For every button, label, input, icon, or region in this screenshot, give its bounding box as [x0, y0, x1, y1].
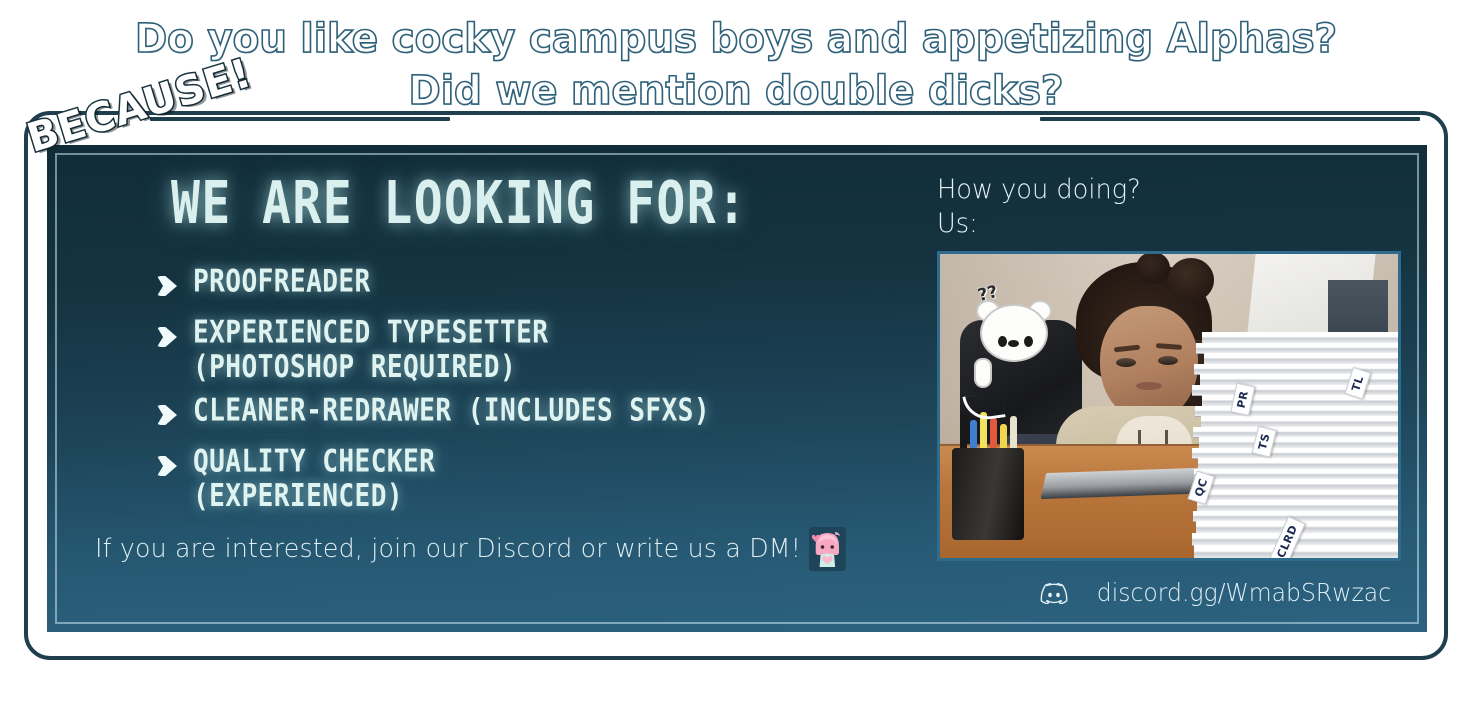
list-item: QUALITY CHECKER (EXPERIENCED) — [157, 445, 947, 505]
plush-nose — [1008, 340, 1019, 347]
question-text: How you doing? — [937, 173, 1384, 207]
woman-lips — [1136, 382, 1162, 390]
discord-link-text[interactable]: discord.gg/WmabSRwzac — [1097, 578, 1391, 607]
hair-bun-right — [1168, 258, 1214, 302]
call-to-action: If you are interested, join our Discord … — [95, 527, 921, 571]
eyebrow-right — [1156, 343, 1182, 350]
decorative-rule-right — [1040, 117, 1420, 121]
list-item: EXPERIENCED TYPESETTER (PHOTOSHOP REQUIR… — [157, 316, 947, 376]
bear-plushie: ?? — [972, 290, 1054, 368]
eye-left — [1116, 358, 1136, 367]
arrow-bullet-icon — [157, 274, 179, 298]
arrow-bullet-icon — [157, 454, 179, 478]
cta-text: If you are interested, join our Discord … — [95, 534, 801, 564]
office-photo: ?? — [937, 251, 1401, 561]
arrow-bullet-icon — [157, 325, 179, 349]
content-panel: WE ARE LOOKING FOR: PROOFREADER EXPERIEN… — [47, 145, 1427, 632]
role-list: PROOFREADER EXPERIENCED TYPESETTER (PHOT… — [157, 265, 947, 505]
plush-eye-left — [998, 336, 1007, 347]
decorative-rule-left — [150, 117, 450, 121]
eyebrow-left — [1114, 345, 1140, 353]
promo-banner: Do you like cocky campus boys and appeti… — [0, 0, 1472, 707]
discord-icon — [1040, 582, 1068, 604]
paper-stack: PR TL TS QC CLRD — [1192, 332, 1401, 561]
left-column: WE ARE LOOKING FOR: PROOFREADER EXPERIEN… — [87, 175, 947, 571]
page-title: WE ARE LOOKING FOR: — [171, 170, 916, 236]
role-label: PROOFREADER — [193, 265, 371, 300]
eye-right — [1158, 356, 1178, 365]
pencil-cup — [952, 448, 1024, 540]
chibi-girl-sticker-icon — [809, 527, 846, 571]
woman-face — [1100, 306, 1198, 422]
list-item: CLEANER-REDRAWER (INCLUDES SFXS) — [157, 394, 947, 427]
role-label: QUALITY CHECKER (EXPERIENCED) — [193, 445, 435, 514]
right-column: How you doing? Us: — [937, 173, 1407, 561]
plush-eye-right — [1024, 336, 1033, 347]
role-label: EXPERIENCED TYPESETTER (PHOTOSHOP REQUIR… — [193, 316, 548, 385]
list-item: PROOFREADER — [157, 265, 947, 298]
arrow-bullet-icon — [157, 403, 179, 427]
hair-bun-left — [1136, 252, 1170, 284]
role-label: CLEANER-REDRAWER (INCLUDES SFXS) — [193, 394, 710, 429]
plush-paw — [974, 358, 992, 388]
discord-invite[interactable]: discord.gg/WmabSRwzac — [1040, 578, 1391, 607]
answer-label: Us: — [937, 207, 1384, 241]
plush-head — [980, 304, 1048, 362]
